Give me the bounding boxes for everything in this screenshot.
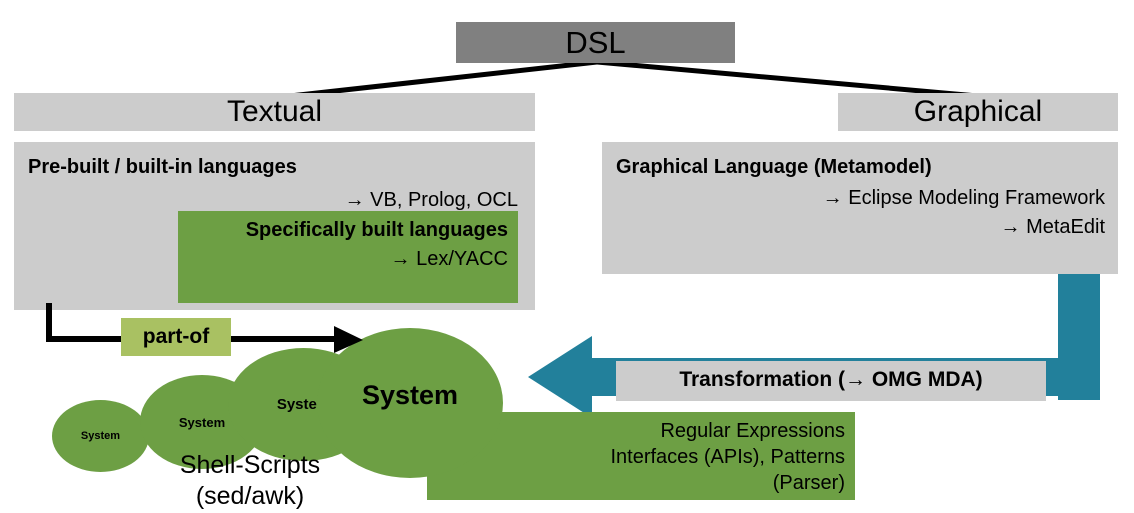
part-of-label: part-of xyxy=(121,318,231,356)
system-node-xs: System xyxy=(52,400,149,472)
dsl-root-box: DSL xyxy=(456,22,735,63)
textual-header-label: Textual xyxy=(14,93,535,131)
graphical-example-metaedit: → MetaEdit xyxy=(602,214,1105,241)
graphical-example-emf: → Eclipse Modeling Framework xyxy=(602,185,1105,212)
techniques-line-2: Interfaces (APIs), Patterns xyxy=(427,444,845,470)
transformation-label: Transformation (→ OMG MDA) xyxy=(616,362,1046,398)
textual-header-box: Textual xyxy=(14,93,535,131)
graphical-language-title: Graphical Language (Metamodel) xyxy=(616,154,932,181)
system-cluster-caption-line-2: (sed/awk) xyxy=(145,481,355,512)
part-of-label-box: part-of xyxy=(121,318,231,356)
graphical-header-label: Graphical xyxy=(838,93,1118,131)
dsl-root-label: DSL xyxy=(456,23,735,63)
graphical-header-box: Graphical xyxy=(838,93,1118,131)
system-node-s-label: System xyxy=(179,415,225,430)
system-cluster-caption-line-1: Shell-Scripts xyxy=(145,450,355,481)
specific-languages-box: Specifically built languages → Lex/YACC xyxy=(178,211,518,303)
graphical-content-panel: Graphical Language (Metamodel) → Eclipse… xyxy=(602,142,1118,274)
prebuilt-languages-examples: → VB, Prolog, OCL xyxy=(14,187,518,214)
techniques-line-3: (Parser) xyxy=(427,470,845,496)
teal-riser-bar xyxy=(1058,274,1100,400)
specific-languages-examples: → Lex/YACC xyxy=(178,246,508,273)
system-node-l-label: System xyxy=(362,380,458,411)
transformation-box: Transformation (→ OMG MDA) xyxy=(616,361,1046,401)
specific-languages-title: Specifically built languages xyxy=(178,217,508,244)
diagram-canvas: DSL Textual Graphical Pre-built / built-… xyxy=(0,0,1134,513)
prebuilt-languages-title: Pre-built / built-in languages xyxy=(28,154,297,181)
system-node-xs-label: System xyxy=(81,430,120,442)
